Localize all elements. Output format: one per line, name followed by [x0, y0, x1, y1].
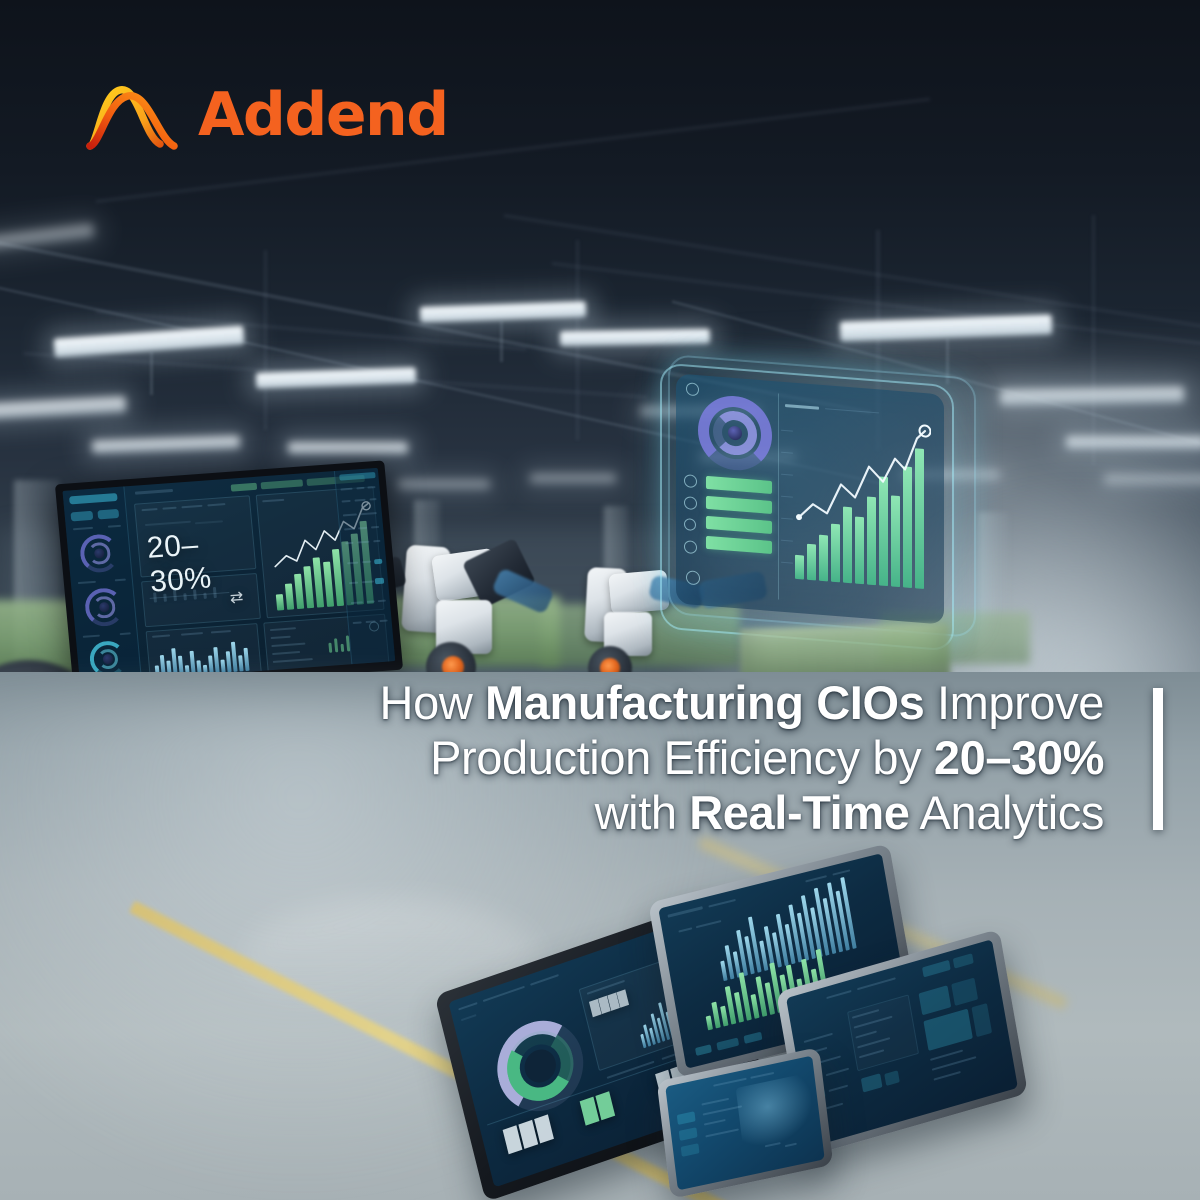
ceiling-lamp [398, 480, 490, 489]
monitor-screen: 20–30% ⇄ [63, 468, 396, 684]
lamp-stem [500, 320, 503, 362]
monitor-gauge [79, 533, 120, 574]
hologram-chart [778, 393, 930, 611]
ceiling-lamp [560, 329, 710, 347]
headline-line-2: Production Efficiency by 20–30% [304, 731, 1104, 786]
monitor-gauge [84, 587, 125, 628]
headline: How Manufacturing CIOs Improve Productio… [304, 676, 1104, 841]
monitor-kpi-card: 20–30% [134, 495, 256, 577]
hologram-status-bar [706, 536, 772, 554]
monitor-sidebar [63, 486, 142, 684]
hologram-icon [684, 496, 697, 510]
ceiling-lamp [530, 474, 616, 483]
hologram-icon [684, 518, 696, 531]
hologram-icon [684, 540, 697, 554]
brand-name: Addend [198, 85, 448, 145]
ceiling-column [264, 250, 267, 430]
headline-line-1: How Manufacturing CIOs Improve [304, 676, 1104, 731]
hologram-status-bar [706, 496, 772, 514]
headline-line-3: with Real-Time Analytics [304, 786, 1104, 841]
hologram-status-bar [706, 516, 772, 534]
hologram-icon [684, 474, 697, 488]
social-card: 20–30% ⇄ [0, 0, 1200, 1200]
hologram-trend-line [779, 394, 931, 612]
wall-monitor: 20–30% ⇄ [55, 460, 403, 693]
hologram-gauge [698, 393, 772, 473]
brand-logo[interactable]: Addend [86, 78, 448, 152]
monitor-sparkline-card: ⇄ [141, 573, 261, 627]
hologram-icon [686, 382, 699, 396]
lamp-stem [150, 351, 153, 395]
bell-curve-logo-icon [86, 78, 182, 152]
hologram-screen [676, 373, 944, 624]
headline-accent-bar [1153, 688, 1163, 830]
hologram-icon [686, 570, 700, 585]
hologram-status-bar [706, 476, 772, 494]
factory-background: 20–30% ⇄ [0, 0, 1200, 1200]
holographic-display [660, 366, 968, 648]
ceiling-lamp [288, 442, 408, 454]
